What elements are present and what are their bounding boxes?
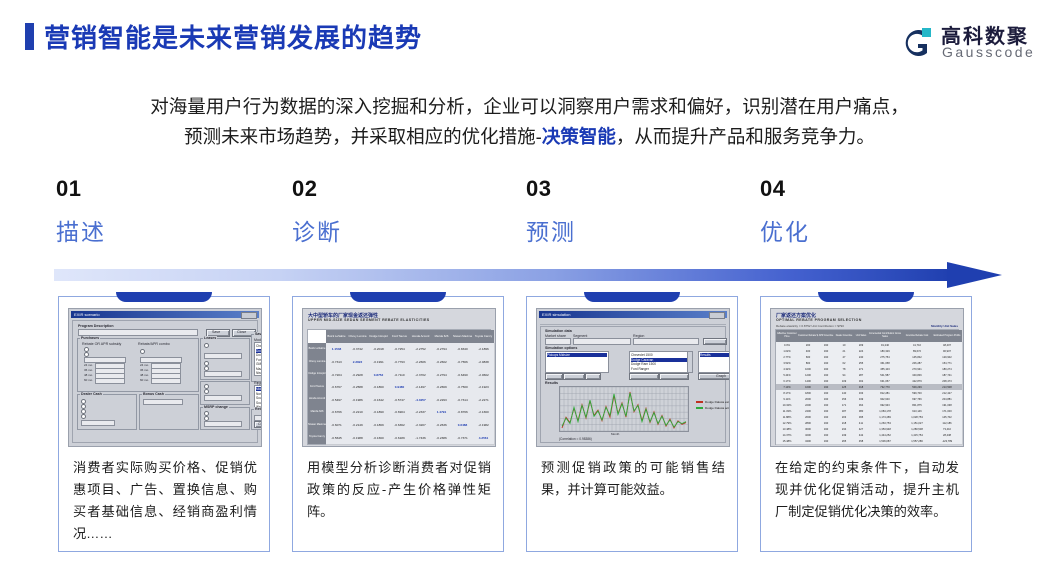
- rate-60-field[interactable]: [151, 378, 181, 384]
- regions-listbox[interactable]: Midwest Northeast Southeast Southwest We…: [254, 385, 262, 409]
- table-cell: 265: [834, 438, 855, 445]
- table-cell: -0.7254: [389, 343, 411, 357]
- brand-logo: 高科数聚 Gausscode: [897, 20, 1037, 66]
- legend-label-est: Dodge Dakota est.: [705, 400, 730, 404]
- table-cell: -0.1986: [347, 394, 369, 408]
- list-item[interactable]: Pickups Midsize: [547, 353, 607, 357]
- table-cell: -0.1991: [368, 356, 390, 370]
- reset-button[interactable]: [729, 338, 730, 345]
- table-cell: -2.2606: [410, 356, 432, 370]
- table-cell: -0.6767: [326, 381, 348, 395]
- card-tab: [818, 292, 914, 302]
- table-cell: 0.8752: [368, 368, 390, 382]
- table-cell: -0.2149: [347, 419, 369, 433]
- table-cell: 190: [818, 438, 835, 445]
- table-cell: -0.2794: [431, 368, 453, 382]
- screenshot-report: 厂家返还方案优化 OPTIMAL REBATE PROGRAM SELECTIO…: [770, 308, 964, 447]
- list-item[interactable]: Midwest: [256, 387, 262, 391]
- table-subtitle: Rebate elasticity = 0.8752 Unit Contribu…: [776, 324, 844, 328]
- model-scrollbar[interactable]: [687, 351, 693, 373]
- row-header: Honda Accord: [308, 394, 326, 407]
- row-header: Nissan Maxima: [308, 419, 326, 432]
- card-tab: [584, 292, 680, 302]
- table-cell: -123,789: [932, 438, 963, 445]
- radio-no-subsidy[interactable]: [204, 343, 209, 348]
- step-number: 04: [760, 176, 990, 202]
- gausscode-g-logo: [897, 24, 935, 62]
- lease-rate-field[interactable]: [204, 371, 242, 377]
- step-label: 诊断: [292, 213, 522, 247]
- table-cell: -0.6490: [452, 368, 474, 382]
- matrix-grid: Buick LeSabreChevy LuminaDodge IntrepidF…: [307, 329, 491, 445]
- legend-swatch-actual: [696, 407, 703, 409]
- mini-menubar[interactable]: File Simulation Tools: [540, 319, 726, 325]
- table-cell: -2.1896: [473, 343, 495, 357]
- correlation-footnote: (Correlation = 0.98386): [559, 437, 592, 441]
- list-item[interactable]: Results: [700, 353, 730, 357]
- list-item[interactable]: Chevrolet 1500: [256, 344, 262, 348]
- radio-lease-only[interactable]: [81, 414, 86, 419]
- radio-not-offered[interactable]: [140, 349, 145, 354]
- table-cell: -0.6904: [389, 406, 411, 420]
- lease-cash-field[interactable]: [204, 353, 242, 359]
- group-label: Bonus Cash: [142, 392, 165, 396]
- table-cell: -2.2271: [473, 394, 495, 408]
- card-caption: 用模型分析诊断消费者对促销政策的反应-产生价格弹性矩阵。: [307, 457, 491, 523]
- table-cell: -2.1982: [473, 419, 495, 433]
- row-header: Ford Taurus: [308, 381, 326, 394]
- table-cell: -0.2293: [431, 394, 453, 408]
- term-label: 36 mo: [140, 368, 148, 372]
- table-cell: 1,536,087: [868, 438, 903, 445]
- term-label: 48 mo: [140, 373, 148, 377]
- list-item[interactable]: Nissan Frontier: [256, 371, 262, 375]
- term-label: 60 mo: [84, 378, 92, 382]
- card-caption: 预测促销政策的可能销售结果，并计算可能效益。: [541, 457, 725, 501]
- row-header: Dodge Intrepid: [308, 368, 326, 381]
- market-share-select[interactable]: [545, 338, 571, 345]
- intro-line-2b: ，从而提升产品和服务竞争力。: [616, 126, 875, 147]
- table-cell: -0.7793: [389, 356, 411, 370]
- screenshot-dialog: EXIR scenario Program Description Save C…: [68, 308, 262, 447]
- sim-data-label: Simulation data: [545, 329, 572, 333]
- intro-line-2a: 预测未来市场趋势，并采取相应的优化措施-: [184, 126, 542, 147]
- table-cell: -0.8766: [452, 406, 474, 420]
- table-cell: -0.6189: [389, 431, 411, 445]
- dealer-cash-select[interactable]: [81, 420, 115, 426]
- table-cell: -0.2636: [431, 419, 453, 433]
- step-02: 02 诊断: [292, 176, 522, 247]
- scenario-listbox[interactable]: Pickups Midsize: [545, 351, 609, 373]
- step-header-row: 01 描述 02 诊断 03 预测 04 优化: [0, 176, 1051, 248]
- table-cell: 15.48%: [776, 438, 799, 445]
- table-cell: -0.1869: [368, 419, 390, 433]
- column-header: Honda Accord: [410, 330, 431, 343]
- term-60-field[interactable]: [95, 378, 125, 384]
- table-cell: -0.2588: [347, 381, 369, 395]
- card-forecast[interactable]: EXIR simulation File Simulation Tools Si…: [526, 296, 738, 552]
- legend-swatch-est: [696, 401, 703, 403]
- table-cell: -2.1923: [473, 381, 495, 395]
- column-header: Chevy Lumina: [347, 330, 368, 343]
- column-header: Nissan Maxima: [452, 330, 473, 343]
- table-cell: -0.8340: [452, 343, 474, 357]
- table-cell: -2.0838: [473, 356, 495, 370]
- table-cell: 458: [854, 438, 869, 445]
- elasticity-table: 大中型轿车的厂家现金返还弹性 UPPER MID-SIZE SEDAN SEGM…: [303, 309, 495, 446]
- table-cell: -0.2210: [347, 406, 369, 420]
- card-caption: 消费者实际购买价格、促销优惠项目、广告、置换信息、购买者基础信息、经销商盈利情况…: [73, 457, 257, 545]
- table-cell: -0.1890: [368, 406, 390, 420]
- table-cell: -0.5747: [389, 394, 411, 408]
- group-label: Purchases: [80, 336, 100, 340]
- card-caption: 在给定的约束条件下，自动发现并优化促销活动，提升主机厂制定促销优化决策的效率。: [775, 457, 959, 523]
- table-cell: -2.3207: [410, 419, 432, 433]
- title-accent-bar: [25, 23, 34, 50]
- list-item[interactable]: Ford Ranger: [631, 367, 691, 371]
- intro-highlight: 决策智能: [542, 126, 616, 147]
- row-header: Mazda 626: [308, 406, 326, 419]
- term-label: 36 mo: [84, 368, 92, 372]
- add-button[interactable]: [545, 373, 563, 380]
- column-header: Effective Customer Price: [776, 330, 798, 342]
- group-label: Save incentives: [254, 332, 262, 336]
- table-cell: -0.7371: [452, 431, 474, 445]
- row-header: Buick LeSabre: [308, 343, 326, 356]
- term-label: 24 mo: [84, 363, 92, 367]
- mini-window-buttons: [241, 312, 257, 319]
- step-number: 01: [56, 176, 286, 202]
- table-cell: -2.0602: [473, 368, 495, 382]
- list-item[interactable]: Mazda B Series: [256, 367, 262, 371]
- table-cell: 2.2822: [347, 356, 369, 370]
- table-title-en: OPTIMAL REBATE PROGRAM SELECTION: [776, 318, 862, 322]
- chart-xlabel: Month: [611, 432, 619, 436]
- table-cell: -0.7110: [389, 368, 411, 382]
- clear-all-button[interactable]: [659, 373, 689, 380]
- column-header: Customer Rebate $: [798, 330, 818, 342]
- column-header: Dealer Incentive: [834, 330, 854, 342]
- msrp-field[interactable]: [204, 421, 242, 427]
- card-tab: [350, 292, 446, 302]
- table-cell: -2.1497: [410, 381, 432, 395]
- sim-options-label: Simulation options: [545, 346, 577, 350]
- table-cell: -2.3702: [410, 368, 432, 382]
- intro-paragraph: 对海量用户行为数据的深入挖掘和分析，企业可以洞察用户需求和偏好，识别潜在用户痛点…: [52, 92, 1007, 152]
- table-cell: -0.1660: [368, 431, 390, 445]
- graph-label: Graph: [716, 374, 726, 378]
- table-cell: -0.7500: [452, 381, 474, 395]
- table-cell: 1.4791: [431, 406, 453, 420]
- list-item[interactable]: Dodge Ram 1500: [256, 353, 262, 357]
- table-cell: -0.3742: [347, 343, 369, 357]
- model-listbox[interactable]: Chevrolet 1500 Dodge Caravan Dodge Ram 1…: [629, 351, 693, 373]
- table-cell: 3400: [798, 438, 819, 445]
- sub-label: Rebate OR APR subsidy: [82, 342, 121, 346]
- table-cell: -2.1660: [473, 406, 495, 420]
- table-cell: 4.2561: [473, 431, 495, 445]
- report-grid: Effective Customer PriceCustomer Rebate …: [775, 329, 959, 445]
- table-cell: -0.2794: [431, 343, 453, 357]
- set-case-button[interactable]: [703, 338, 727, 345]
- mini-title: EXIR simulation: [542, 311, 570, 318]
- table-cell: -0.6071: [326, 419, 348, 433]
- group-label: Program Description: [78, 324, 114, 328]
- results-label: Results: [545, 381, 558, 385]
- table-cell: -0.7314: [452, 394, 474, 408]
- residual-field[interactable]: [204, 395, 242, 401]
- bonus-cash-field[interactable]: [143, 399, 183, 405]
- arrow-head-icon: [947, 262, 1002, 288]
- column-header: APR Incentive: [818, 330, 834, 342]
- table-cell: 0.6488: [452, 419, 474, 433]
- term-label: 24 mo: [140, 363, 148, 367]
- table-cell: -0.1860: [368, 381, 390, 395]
- table-cell: -0.2602: [431, 356, 453, 370]
- table-cell: -1.7436: [410, 431, 432, 445]
- step-number: 03: [526, 176, 756, 202]
- clear-label: Clear: [258, 422, 262, 426]
- intro-line-1: 对海量用户行为数据的深入挖掘和分析，企业可以洞察用户需求和偏好，识别潜在用户痛点…: [150, 96, 909, 117]
- mini-titlebar: EXIR scenario: [71, 311, 259, 318]
- list-item[interactable]: Dodge Caravan: [631, 358, 691, 362]
- remove-button[interactable]: [563, 373, 585, 380]
- step-number: 02: [292, 176, 522, 202]
- table-cell: -0.5497: [326, 394, 348, 408]
- step-label: 优化: [760, 213, 990, 247]
- save-label: Save: [212, 330, 220, 334]
- options-listbox[interactable]: Results: [698, 351, 730, 373]
- mini-window: EXIR scenario Program Description Save C…: [69, 309, 261, 446]
- legend-label-actual: Dodge Dakota actual: [705, 406, 730, 410]
- table-cell: 1.1548: [326, 343, 348, 357]
- table-cell: -2.2752: [410, 343, 432, 357]
- logo-text-en: Gausscode: [942, 44, 1035, 60]
- table-cell: -4.0257: [410, 394, 432, 408]
- list-item[interactable]: Chevrolet 1500: [631, 353, 691, 357]
- list-item[interactable]: Dodge Ram 1500: [631, 362, 691, 366]
- table-cell: -0.2386: [431, 431, 453, 445]
- table-title-en: UPPER MID-SIZE SEDAN SEGMENT REBATE ELAS…: [308, 318, 430, 322]
- table-cell: -0.7313: [326, 356, 348, 370]
- column-header: Estimated Program Profits: [932, 330, 962, 342]
- table-corner-note: Monthly Unit Sales: [931, 324, 958, 328]
- mini-window-body: Simulation data Market share Segment Reg…: [540, 326, 726, 443]
- page-header: 营销智能是未来营销发展的趋势 高科数聚 Gausscode: [0, 0, 1051, 72]
- group-label: Retrieve incentives: [254, 407, 262, 411]
- screenshot-simulation: EXIR simulation File Simulation Tools Si…: [536, 308, 730, 447]
- sub-label: Rebate/APR combo: [138, 342, 170, 346]
- column-header: Toyota Camry: [473, 330, 494, 343]
- column-header: Mazda 626: [431, 330, 452, 343]
- models-listbox[interactable]: Chevrolet 1500 Dodge Caravan Dodge Ram 1…: [254, 342, 262, 376]
- list-item[interactable]: Southeast: [256, 396, 262, 400]
- mini-window: EXIR simulation File Simulation Tools Si…: [537, 309, 729, 446]
- close-label: Close: [237, 330, 246, 334]
- arrow-shaft: [54, 269, 954, 281]
- table-cell: -0.2018: [368, 343, 390, 357]
- line-chart: [560, 387, 688, 431]
- table-cell: -0.6362: [389, 419, 411, 433]
- page-title: 营销智能是未来营销发展的趋势: [44, 18, 422, 55]
- card-optimize[interactable]: 厂家返还方案优化 OPTIMAL REBATE PROGRAM SELECTIO…: [760, 296, 972, 552]
- group-label: MSRP change: [203, 405, 229, 409]
- list-item[interactable]: GMC Sonoma: [256, 362, 262, 366]
- group-label: Leases: [203, 336, 217, 340]
- edit-button[interactable]: [585, 373, 601, 380]
- table-cell: -0.2669: [431, 381, 453, 395]
- column-header: Ford Taurus: [389, 330, 410, 343]
- group-label: Dealer Cash: [80, 392, 103, 396]
- table-cell: -0.7204: [326, 368, 348, 382]
- card-tab: [116, 292, 212, 302]
- term-label: 60 mo: [140, 378, 148, 382]
- step-04: 04 优化: [760, 176, 990, 247]
- table-cell: -0.1642: [368, 394, 390, 408]
- progress-arrow: [54, 262, 1004, 290]
- table-cell: 0.9480: [389, 381, 411, 395]
- step-label: 描述: [56, 213, 286, 247]
- column-header: Incentive Rebate Cost: [902, 330, 932, 342]
- region-select[interactable]: [633, 338, 699, 345]
- table-cell: -2.2337: [410, 406, 432, 420]
- mini-window-buttons: [709, 312, 725, 319]
- mini-title: EXIR scenario: [74, 311, 100, 318]
- rebate-table: 厂家返还方案优化 OPTIMAL REBATE PROGRAM SELECTIO…: [771, 309, 963, 446]
- mini-titlebar: EXIR simulation: [539, 311, 727, 318]
- card-diagnose[interactable]: 大中型轿车的厂家现金返还弹性 UPPER MID-SIZE SEDAN SEGM…: [292, 296, 504, 552]
- table-cell: 1,557,286: [902, 438, 933, 445]
- segment-select[interactable]: [573, 338, 631, 345]
- screenshot-matrix: 大中型轿车的厂家现金返还弹性 UPPER MID-SIZE SEDAN SEGM…: [302, 308, 496, 447]
- list-item[interactable]: Southwest: [256, 401, 262, 405]
- step-03: 03 预测: [526, 176, 756, 247]
- table-cell: -0.6766: [326, 406, 348, 420]
- row-header: Chevy Lumina: [308, 356, 326, 369]
- table-cell: -0.5645: [326, 431, 348, 445]
- list-item[interactable]: Ford Ranger: [256, 358, 262, 362]
- card-describe[interactable]: EXIR scenario Program Description Save C…: [58, 296, 270, 552]
- description-input[interactable]: [78, 329, 198, 336]
- sim-chart: [559, 386, 689, 432]
- column-header: Dodge Intrepid: [368, 330, 389, 343]
- table-cell: -0.7566: [452, 356, 474, 370]
- list-item[interactable]: Northeast: [256, 392, 262, 396]
- row-header: Toyota Camry: [308, 431, 326, 444]
- step-01: 01 描述: [56, 176, 286, 247]
- table-cell: -0.1988: [347, 431, 369, 445]
- radio-pct-msrp[interactable]: [204, 389, 209, 394]
- term-label: 48 mo: [84, 373, 92, 377]
- card-row: EXIR scenario Program Description Save C…: [0, 296, 1051, 561]
- mini-window-body: Program Description Save Close Purchases…: [72, 320, 258, 443]
- column-header: Incremental Contribution Gross Sales: [868, 330, 902, 342]
- column-header: Buick LeSabre: [326, 330, 347, 343]
- select-all-button[interactable]: [629, 373, 659, 380]
- column-header: Unit Sales: [854, 330, 868, 342]
- list-item[interactable]: Dodge Caravan: [256, 349, 262, 353]
- table-cell: -0.2928: [347, 368, 369, 382]
- step-label: 预测: [526, 213, 756, 247]
